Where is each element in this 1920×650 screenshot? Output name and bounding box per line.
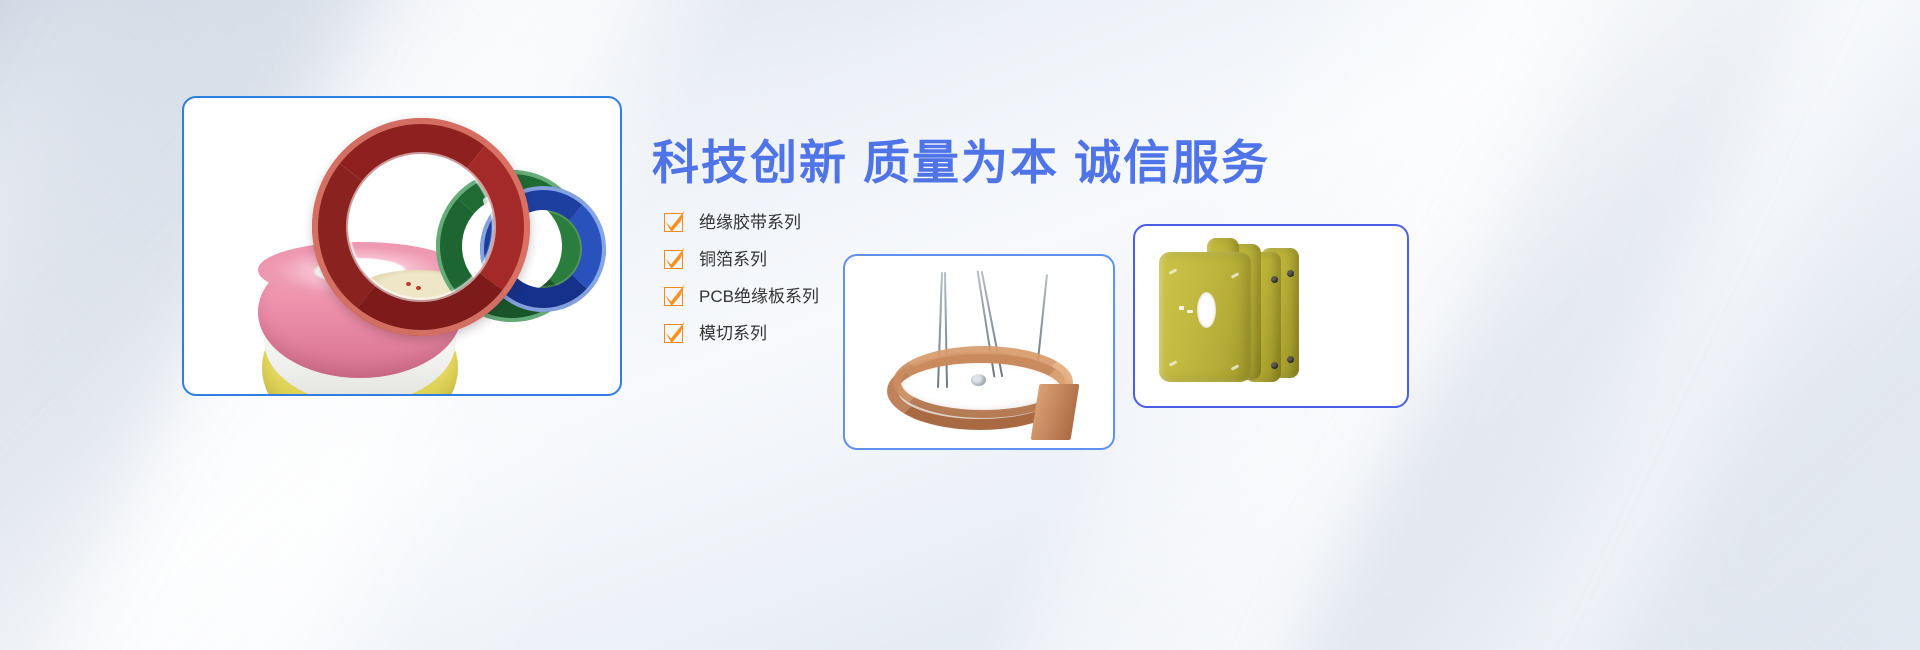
check-icon — [664, 324, 683, 343]
feature-label: 模切系列 — [699, 325, 767, 342]
feature-label: PCB绝缘板系列 — [699, 288, 819, 305]
pcb-board-slot — [1179, 306, 1184, 310]
background-sheen-band — [1336, 0, 1920, 650]
insulation-tape-photo — [184, 98, 620, 394]
check-icon — [664, 213, 683, 232]
feature-list-item[interactable]: 绝缘胶带系列 — [664, 204, 819, 240]
pcb-board-screw — [1271, 362, 1278, 369]
check-icon — [664, 287, 683, 306]
hero-banner: 科技创新 质量为本 诚信服务 绝缘胶带系列 铜箔系列 — [0, 0, 1920, 650]
product-feature-list: 绝缘胶带系列 铜箔系列 PCB绝缘板系列 模切 — [664, 204, 819, 352]
check-icon — [664, 250, 683, 269]
feature-list-item[interactable]: PCB绝缘板系列 — [664, 278, 819, 314]
feature-list-item[interactable]: 模切系列 — [664, 315, 819, 351]
copper-foil-photo — [845, 256, 1113, 448]
pcb-board-screw — [1271, 276, 1278, 283]
product-card-insulation-tape[interactable] — [182, 96, 622, 396]
feature-label: 铜箔系列 — [699, 251, 767, 268]
feature-list-item[interactable]: 铜箔系列 — [664, 241, 819, 277]
product-card-copper-foil[interactable] — [843, 254, 1115, 450]
background-shadow-band — [1521, 0, 1920, 650]
feature-label: 绝缘胶带系列 — [699, 214, 801, 231]
pcb-board-screw — [1287, 270, 1294, 277]
pcb-board-slot — [1187, 310, 1193, 313]
banner-headline: 科技创新 质量为本 诚信服务 — [652, 124, 1270, 193]
pcb-board-oval-cutout — [1197, 292, 1216, 328]
pcb-board-photo — [1135, 226, 1407, 406]
product-card-pcb-board[interactable] — [1133, 224, 1409, 408]
pcb-board-screw — [1287, 356, 1294, 363]
copper-foil-tail — [1031, 384, 1080, 440]
